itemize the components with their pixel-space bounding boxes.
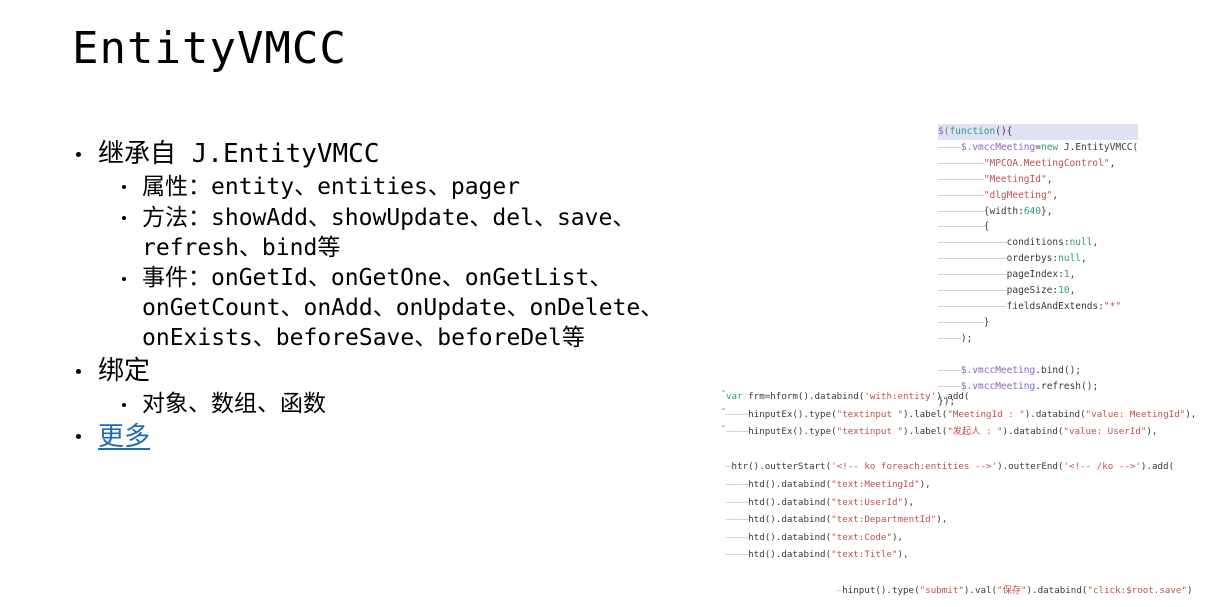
code-line: ————————"dlgMeeting", (938, 188, 1138, 204)
gutter-tick (722, 425, 725, 427)
code-line: —htr().outterStart('<!-- ko foreach:enti… (726, 458, 1196, 476)
code-line: —hinput().type("submit").val("保存").datab… (726, 582, 1196, 600)
code-line: var frm=hform().databind('with:entity').… (726, 388, 1196, 406)
list-item-label: 继承自 J.EntityVMCC (98, 138, 710, 172)
code-line: ————$.vmccMeeting=new J.EntityVMCC( (938, 140, 1138, 156)
code-line: ————————————pageSize:10, (938, 283, 1138, 299)
gutter-tick (722, 390, 725, 392)
code-line (726, 564, 1196, 582)
code-line: ————————————conditions:null, (938, 235, 1138, 251)
code-line: ————————————fieldsAndExtends:"*" (938, 299, 1138, 315)
list-item: 事件：onGetId、onGetOne、onGetList、onGetCount… (70, 264, 710, 354)
list-item-label: 绑定 (98, 355, 710, 389)
bullet-dot-icon (122, 403, 126, 407)
bullet-dot-icon (76, 152, 81, 157)
code-line: ————htd().databind("text:MeetingId"), (726, 476, 1196, 494)
list-item-label: 事件：onGetId、onGetOne、onGetList、onGetCount… (142, 264, 710, 354)
list-item-label: 属性：entity、entities、pager (142, 173, 710, 203)
code-line (938, 347, 1138, 363)
code-line: ————hinputEx().type("textinput ").label(… (726, 406, 1196, 424)
code-line: ————); (938, 331, 1138, 347)
bullet-dot-icon (76, 434, 81, 439)
bullet-list: 继承自 J.EntityVMCC 属性：entity、entities、page… (70, 138, 710, 456)
more-link[interactable]: 更多 (98, 421, 710, 455)
page-title: EntityVMCC (72, 24, 347, 75)
list-item: 方法：showAdd、showUpdate、del、save、refresh、b… (70, 204, 710, 264)
code-line: ————————{ (938, 219, 1138, 235)
list-item: 继承自 J.EntityVMCC (70, 138, 710, 172)
bullet-dot-icon (76, 369, 81, 374)
code-line: ————————"MPCOA.MeetingControl", (938, 156, 1138, 172)
list-item-label: 对象、数组、函数 (142, 390, 710, 420)
list-item-label: 方法：showAdd、showUpdate、del、save、refresh、b… (142, 204, 710, 264)
bullet-dot-icon (122, 185, 126, 189)
code-line: ————————"MeetingId", (938, 172, 1138, 188)
code-line: ————htd().databind("text:Code"), (726, 529, 1196, 547)
code-line: ————htd().databind("text:Title"), (726, 546, 1196, 564)
code-line: ————————{width:640}, (938, 204, 1138, 220)
code-line (726, 441, 1196, 459)
code-line: ————htd().databind("text:DepartmentId"), (726, 511, 1196, 529)
code-line: $(function(){ (938, 124, 1138, 140)
list-item: 属性：entity、entities、pager (70, 173, 710, 203)
code-line: ————————} (938, 315, 1138, 331)
code-line: ————$.vmccMeeting.bind(); (938, 363, 1138, 379)
code-gutter-marks (722, 390, 725, 443)
list-item: 绑定 (70, 355, 710, 389)
code-line: ————————————pageIndex:1, (938, 267, 1138, 283)
code-snippet-form: var frm=hform().databind('with:entity').… (726, 388, 1196, 599)
bullet-dot-icon (122, 216, 126, 220)
code-line: ————hinputEx().type("textinput ").label(… (726, 423, 1196, 441)
code-snippet-init: $(function(){————$.vmccMeeting=new J.Ent… (938, 124, 1138, 410)
code-line: ————————————orderbys:null, (938, 251, 1138, 267)
gutter-tick (722, 408, 725, 410)
code-line: ————htd().databind("text:UserId"), (726, 494, 1196, 512)
bullet-dot-icon (122, 277, 126, 281)
list-item-more[interactable]: 更多 (70, 421, 710, 455)
list-item: 对象、数组、函数 (70, 390, 710, 420)
